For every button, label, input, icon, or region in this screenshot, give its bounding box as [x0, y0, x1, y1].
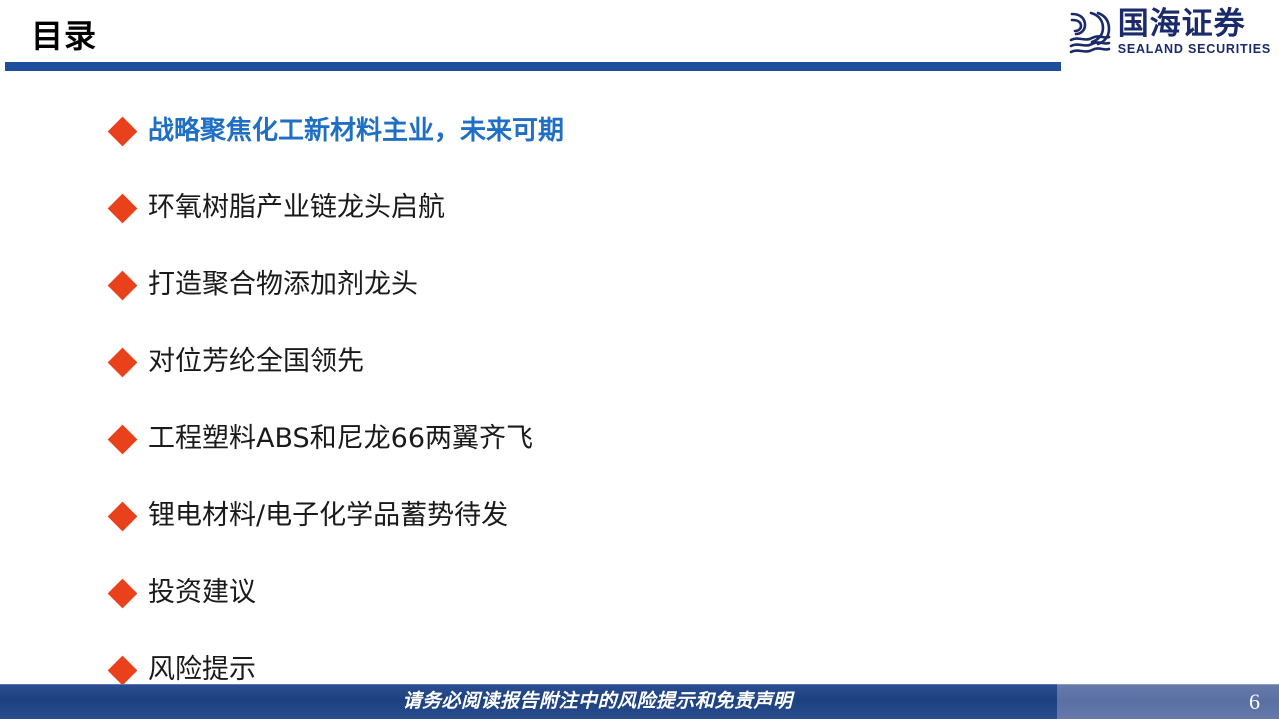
- slide-header: 目录 国海证券 SEALAND SECURITIES: [0, 0, 1279, 70]
- diamond-bullet-icon: [108, 116, 138, 146]
- logo-text-block: 国海证券 SEALAND SECURITIES: [1118, 8, 1271, 57]
- toc-item-1[interactable]: 战略聚焦化工新材料主业，未来可期: [0, 92, 1279, 169]
- toc-item-7[interactable]: 投资建议: [0, 554, 1279, 631]
- toc-item-5[interactable]: 工程塑料ABS和尼龙66两翼齐飞: [0, 400, 1279, 477]
- page-number: 6: [1249, 687, 1260, 716]
- toc-item-label: 环氧树脂产业链龙头启航: [148, 191, 445, 225]
- toc-item-label: 工程塑料ABS和尼龙66两翼齐飞: [148, 422, 533, 456]
- page-title: 目录: [31, 16, 97, 56]
- diamond-bullet-icon: [108, 347, 138, 377]
- slide-footer: 请务必阅读报告附注中的风险提示和免责声明 6: [0, 684, 1279, 719]
- diamond-bullet-icon: [108, 270, 138, 300]
- toc-item-label: 投资建议: [148, 576, 256, 610]
- toc-item-2[interactable]: 环氧树脂产业链龙头启航: [0, 169, 1279, 246]
- toc-item-4[interactable]: 对位芳纶全国领先: [0, 323, 1279, 400]
- slide-root: 目录 国海证券 SEALAND SECURITIES: [0, 0, 1279, 719]
- toc-item-label: 战略聚焦化工新材料主业，未来可期: [148, 114, 564, 148]
- header-divider: [5, 62, 1061, 71]
- toc-item-3[interactable]: 打造聚合物添加剂龙头: [0, 246, 1279, 323]
- toc-item-label: 打造聚合物添加剂龙头: [148, 268, 418, 302]
- logo-name-cn: 国海证券: [1118, 8, 1246, 41]
- diamond-bullet-icon: [108, 578, 138, 608]
- toc-item-label: 风险提示: [148, 653, 256, 687]
- toc-item-label: 对位芳纶全国领先: [148, 345, 364, 379]
- diamond-bullet-icon: [108, 501, 138, 531]
- brand-logo: 国海证券 SEALAND SECURITIES: [1069, 8, 1271, 60]
- diamond-bullet-icon: [108, 424, 138, 454]
- sealand-wave-logo-icon: [1069, 9, 1111, 57]
- footer-disclaimer: 请务必阅读报告附注中的风险提示和免责声明: [0, 688, 1279, 715]
- diamond-bullet-icon: [108, 193, 138, 223]
- logo-name-en: SEALAND SECURITIES: [1118, 42, 1271, 57]
- toc-item-label: 锂电材料/电子化学品蓄势待发: [148, 499, 508, 533]
- table-of-contents: 战略聚焦化工新材料主业，未来可期 环氧树脂产业链龙头启航 打造聚合物添加剂龙头 …: [0, 92, 1279, 708]
- toc-item-6[interactable]: 锂电材料/电子化学品蓄势待发: [0, 477, 1279, 554]
- diamond-bullet-icon: [108, 655, 138, 685]
